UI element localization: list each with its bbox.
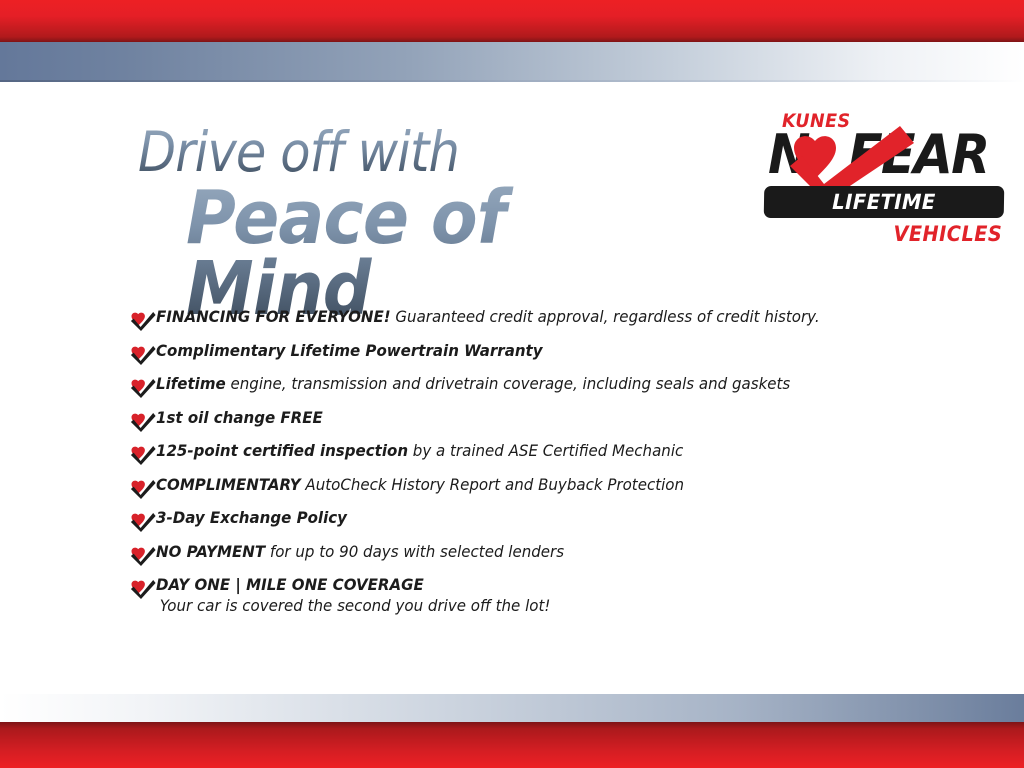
- heart-check-icon: [130, 377, 156, 398]
- benefit-item: DAY ONE | MILE ONE COVERAGEYour car is c…: [130, 576, 950, 615]
- headline: Drive off with Peace of Mind: [138, 126, 758, 325]
- benefit-text: 125-point certified inspection by a trai…: [156, 442, 683, 460]
- benefit-text: FINANCING FOR EVERYONE! Guaranteed credi…: [156, 308, 820, 326]
- heart-check-icon: [130, 310, 156, 331]
- benefit-item: Complimentary Lifetime Powertrain Warran…: [130, 342, 950, 365]
- benefit-headline: DAY ONE | MILE ONE COVERAGE: [156, 575, 424, 594]
- benefits-list: FINANCING FOR EVERYONE! Guaranteed credi…: [130, 308, 950, 625]
- benefit-text: Complimentary Lifetime Powertrain Warran…: [156, 342, 543, 360]
- logo-no-fear-wordmark: NFEAR: [768, 128, 988, 182]
- benefit-item: FINANCING FOR EVERYONE! Guaranteed credi…: [130, 308, 950, 331]
- heart-check-icon: [130, 578, 156, 599]
- benefit-item: Lifetime engine, transmission and drivet…: [130, 375, 950, 398]
- benefit-detail: by a trained ASE Certified Mechanic: [408, 441, 683, 460]
- heart-check-icon: [130, 344, 156, 365]
- logo-word-fear: FEAR: [848, 123, 988, 186]
- heart-check-icon: [130, 578, 156, 599]
- headline-line-1: Drive off with: [138, 126, 696, 179]
- benefit-text: DAY ONE | MILE ONE COVERAGEYour car is c…: [156, 576, 550, 615]
- heart-check-icon: [130, 478, 156, 499]
- heart-check-icon: [130, 377, 156, 398]
- benefit-headline: 1st oil change FREE: [156, 408, 323, 427]
- benefit-text: Lifetime engine, transmission and drivet…: [156, 375, 790, 393]
- benefit-headline: Lifetime: [156, 374, 226, 393]
- benefit-text: NO PAYMENT for up to 90 days with select…: [156, 543, 564, 561]
- benefit-item: NO PAYMENT for up to 90 days with select…: [130, 543, 950, 566]
- benefit-headline: FINANCING FOR EVERYONE!: [156, 307, 391, 326]
- heart-check-icon: [130, 411, 156, 432]
- benefit-item: 125-point certified inspection by a trai…: [130, 442, 950, 465]
- benefit-item: 3-Day Exchange Policy: [130, 509, 950, 532]
- benefit-headline: NO PAYMENT: [156, 542, 265, 561]
- benefit-text: 1st oil change FREE: [156, 409, 323, 427]
- benefit-headline: 3-Day Exchange Policy: [156, 508, 347, 527]
- heart-check-icon: [130, 545, 156, 566]
- kunes-no-fear-logo: KUNES NFEAR LIFETIME CERTIFIED VEHICLES: [760, 110, 1010, 250]
- headline-line-2: Peace of Mind: [186, 183, 712, 325]
- heart-check-icon: [130, 411, 156, 432]
- heart-check-icon: [130, 511, 156, 532]
- logo-lifetime-certified-banner: LIFETIME CERTIFIED: [764, 186, 1005, 218]
- heart-check-icon: [130, 511, 156, 532]
- benefit-headline: 125-point certified inspection: [156, 441, 408, 460]
- benefit-detail: for up to 90 days with selected lenders: [265, 542, 564, 561]
- bottom-slate-band: [0, 694, 1024, 722]
- benefit-detail: Guaranteed credit approval, regardless o…: [391, 307, 820, 326]
- heart-check-icon: [130, 444, 156, 465]
- heart-check-icon: [130, 478, 156, 499]
- benefit-item: 1st oil change FREE: [130, 409, 950, 432]
- benefit-headline: COMPLIMENTARY: [156, 475, 301, 494]
- bottom-red-band: [0, 722, 1024, 768]
- benefit-text: COMPLIMENTARY AutoCheck History Report a…: [156, 476, 684, 494]
- logo-letter-n: N: [768, 123, 809, 186]
- heart-check-icon: [130, 444, 156, 465]
- benefit-subtext: Your car is covered the second you drive…: [160, 597, 551, 615]
- heart-check-icon: [130, 545, 156, 566]
- benefit-detail: AutoCheck History Report and Buyback Pro…: [301, 475, 684, 494]
- logo-word-vehicles: VEHICLES: [893, 222, 1002, 246]
- top-slate-band: [0, 42, 1024, 82]
- benefit-text: 3-Day Exchange Policy: [156, 509, 347, 527]
- benefit-item: COMPLIMENTARY AutoCheck History Report a…: [130, 476, 950, 499]
- heart-check-icon: [130, 310, 156, 331]
- top-red-band: [0, 0, 1024, 42]
- benefit-detail: engine, transmission and drivetrain cove…: [226, 374, 791, 393]
- benefit-headline: Complimentary Lifetime Powertrain Warran…: [156, 341, 543, 360]
- heart-check-icon: [130, 344, 156, 365]
